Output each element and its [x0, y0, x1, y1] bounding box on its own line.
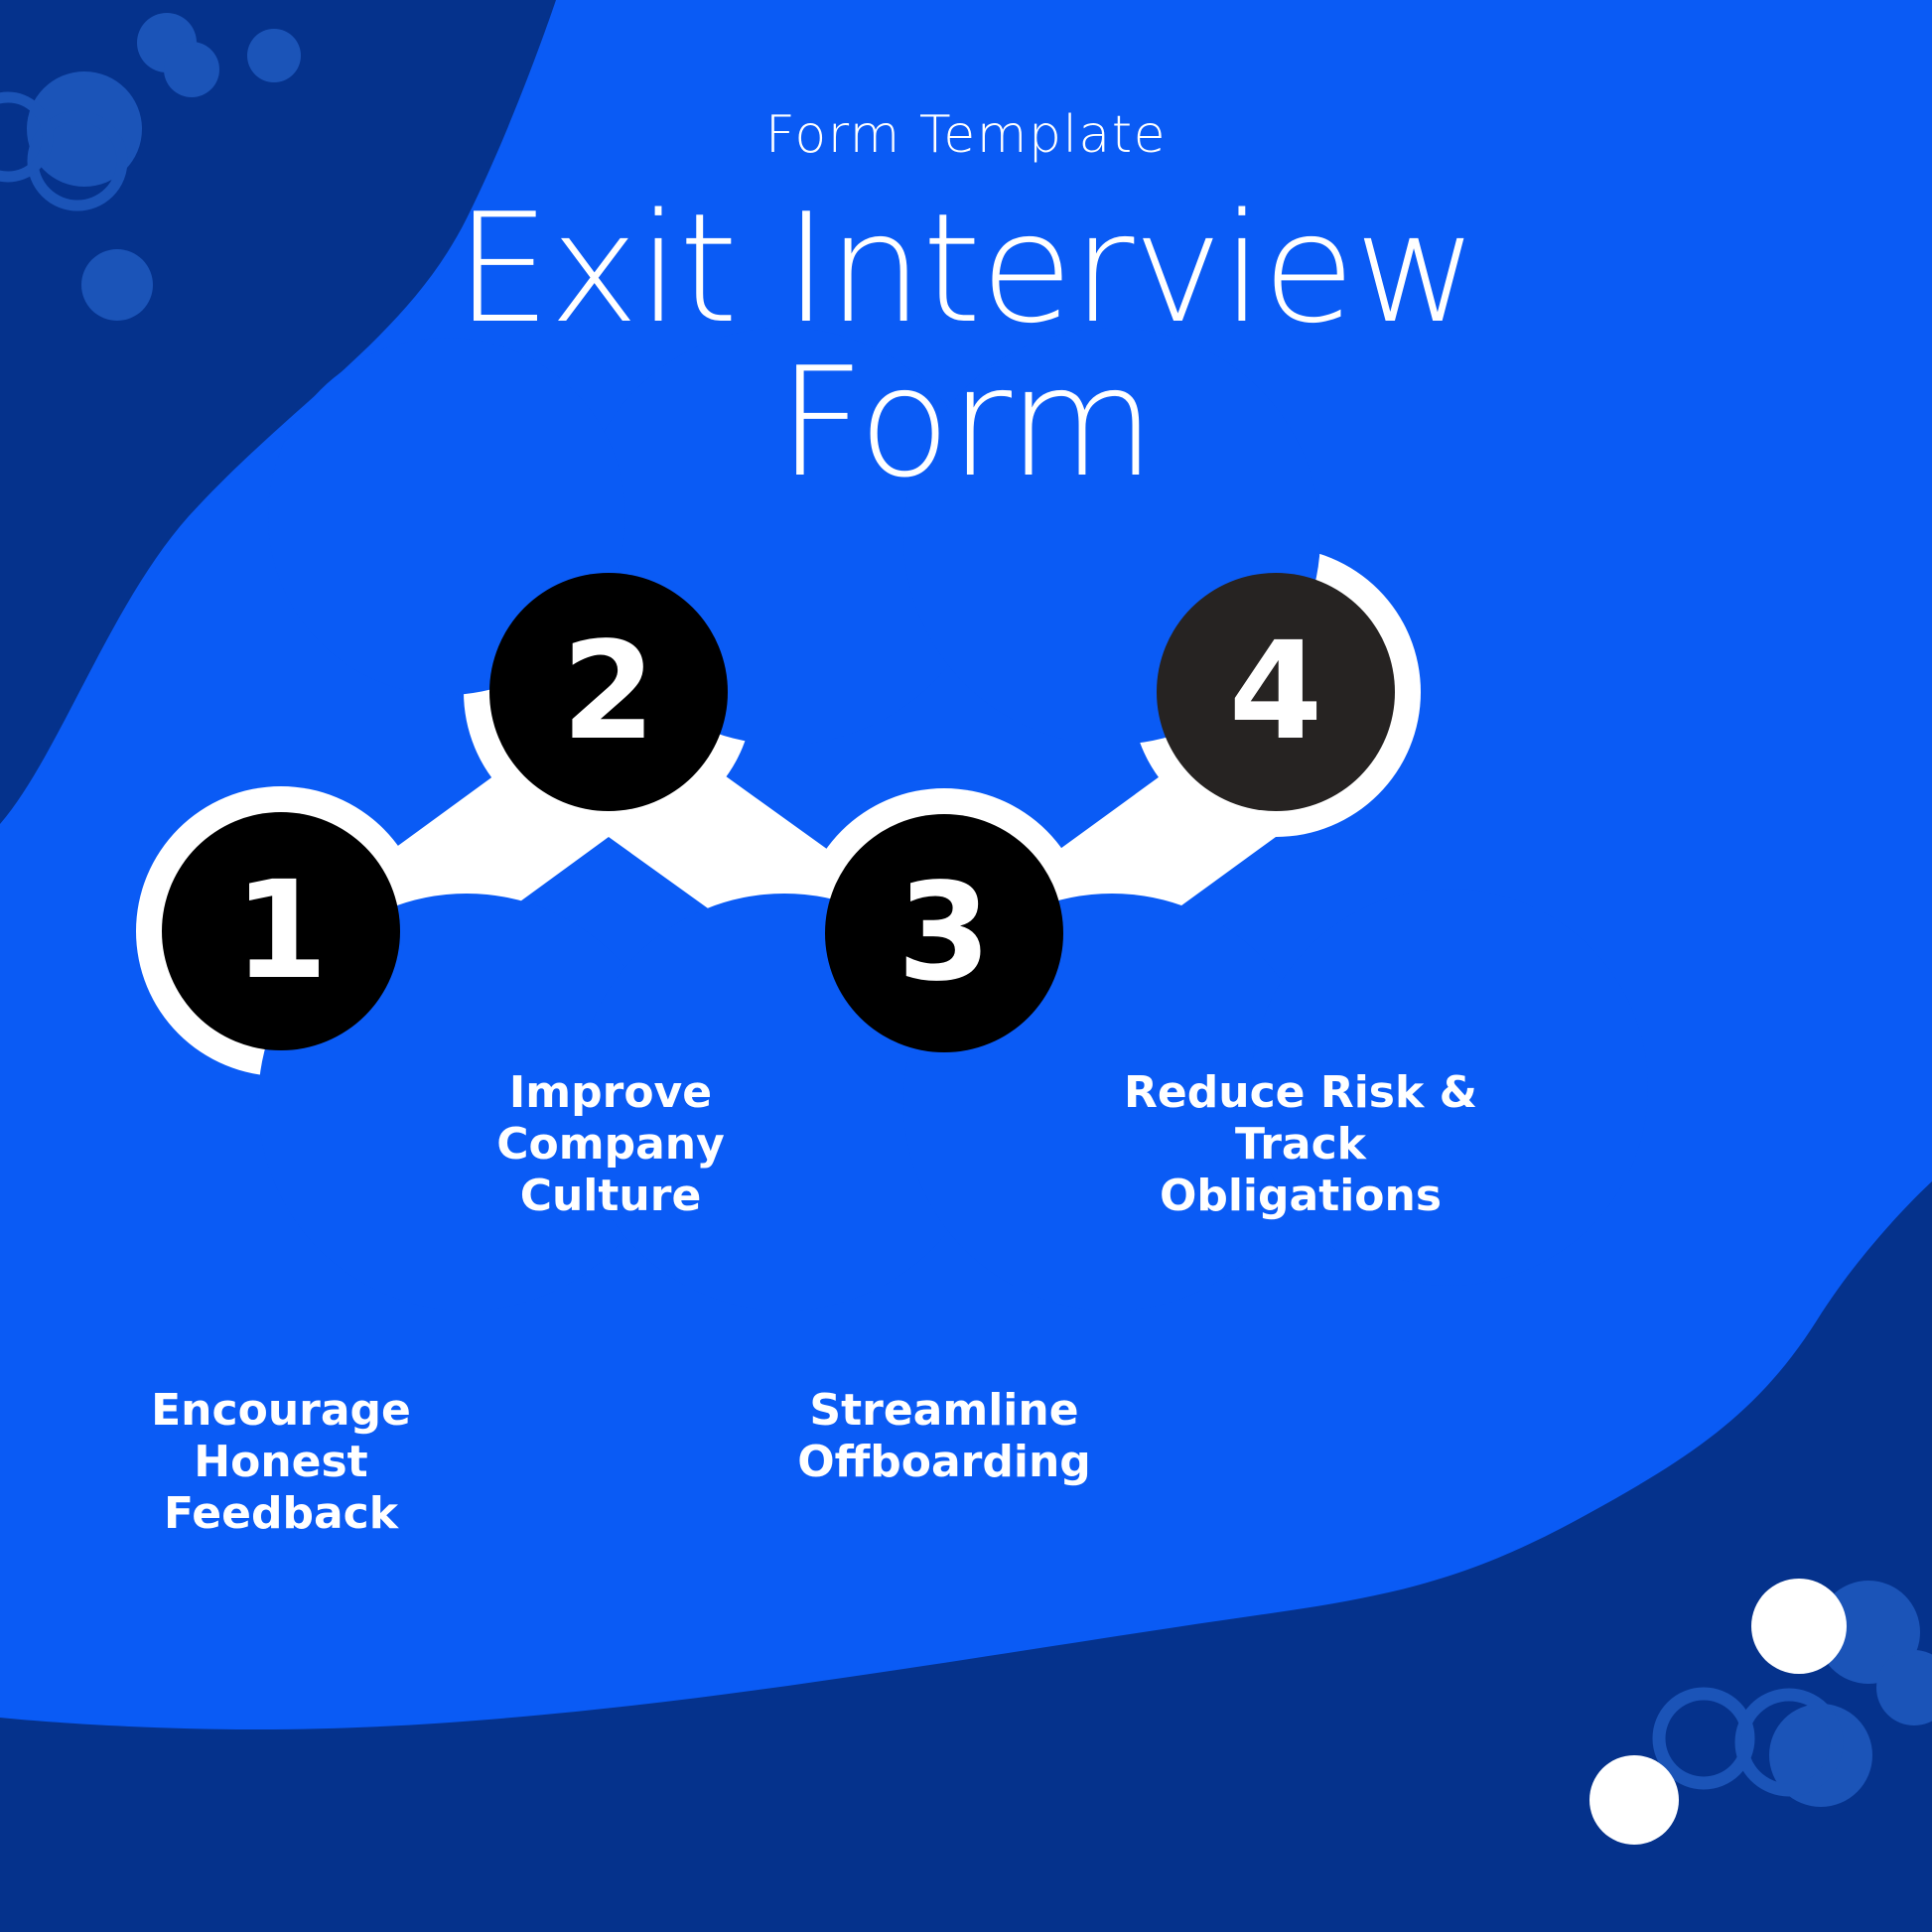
step-label-4: Reduce Risk & Track Obligations	[1102, 1067, 1499, 1222]
step-label-2: Improve Company Culture	[452, 1067, 769, 1222]
step-node-4[interactable]: 4	[1157, 573, 1395, 811]
page-title: Exit Interview Form	[0, 192, 1932, 499]
step-number-3: 3	[897, 866, 992, 1001]
step-node-2[interactable]: 2	[489, 573, 728, 811]
header: Form Template Exit Interview Form	[0, 107, 1932, 499]
step-node-1[interactable]: 1	[162, 812, 400, 1050]
step-label-3: Streamline Offboarding	[775, 1385, 1113, 1488]
step-number-2: 2	[562, 624, 656, 759]
step-number-1: 1	[234, 864, 329, 999]
eyebrow-text: Form Template	[0, 107, 1932, 164]
step-node-3[interactable]: 3	[825, 814, 1063, 1052]
step-label-1: Encourage Honest Feedback	[102, 1385, 460, 1540]
infographic-canvas: Form Template Exit Interview Form	[0, 0, 1932, 1932]
step-number-4: 4	[1229, 624, 1323, 759]
